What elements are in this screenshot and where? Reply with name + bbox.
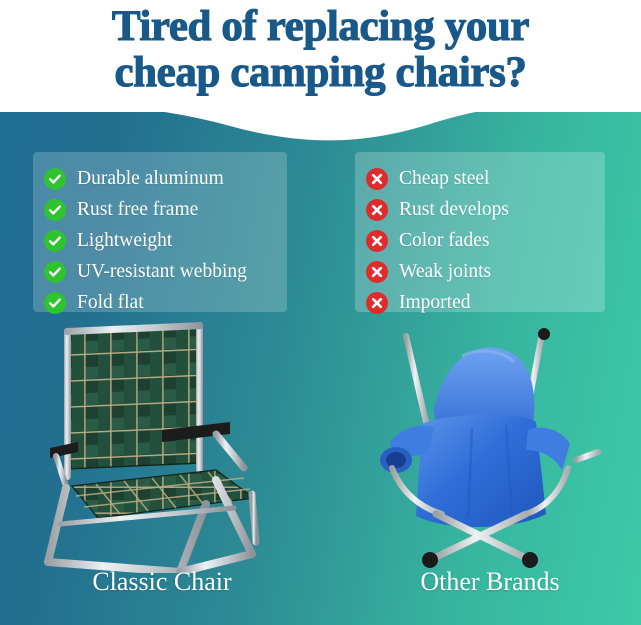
x-circle-icon — [366, 168, 388, 190]
x-circle-icon — [366, 199, 388, 221]
list-item-label: Color fades — [399, 230, 489, 252]
list-item-label: Imported — [399, 292, 470, 314]
list-item-label: Rust free frame — [77, 199, 198, 221]
header: Tired of replacing your cheap camping ch… — [0, 0, 641, 112]
x-circle-icon — [366, 230, 388, 252]
x-circle-icon — [366, 261, 388, 283]
title-line-1: Tired of replacing your — [0, 4, 641, 50]
list-item: Lightweight — [33, 226, 287, 256]
product-images — [0, 318, 641, 573]
list-item-label: Weak joints — [399, 261, 491, 283]
list-item-label: Rust develops — [399, 199, 509, 221]
cons-list: Cheap steel Rust develops — [355, 164, 605, 318]
check-circle-icon — [44, 261, 66, 283]
caption-other-brands: Other Brands — [340, 565, 640, 599]
list-item-label: Lightweight — [77, 230, 172, 252]
other-brands-chair-image — [330, 318, 630, 573]
title-line-2: cheap camping chairs? — [0, 50, 641, 96]
list-item-label: Fold flat — [77, 292, 144, 314]
list-item: Color fades — [355, 226, 605, 256]
caption-classic-chair: Classic Chair — [12, 565, 312, 599]
list-item: Fold flat — [33, 288, 287, 318]
list-item-label: Durable aluminum — [77, 168, 224, 190]
comparison-infographic: Tired of replacing your cheap camping ch… — [0, 0, 641, 625]
check-circle-icon — [44, 199, 66, 221]
pros-panel: Durable aluminum Rust free frame — [33, 152, 287, 312]
page-title: Tired of replacing your cheap camping ch… — [0, 0, 641, 96]
check-circle-icon — [44, 230, 66, 252]
check-circle-icon — [44, 168, 66, 190]
list-item: Rust free frame — [33, 195, 287, 225]
check-circle-icon — [44, 292, 66, 314]
cons-panel: Cheap steel Rust develops — [355, 152, 605, 312]
list-item: Weak joints — [355, 257, 605, 287]
list-item: Durable aluminum — [33, 164, 287, 194]
x-circle-icon — [366, 292, 388, 314]
list-item: Imported — [355, 288, 605, 318]
list-item-label: UV-resistant webbing — [77, 261, 247, 283]
feature-panels: Durable aluminum Rust free frame — [0, 152, 641, 314]
product-captions: Classic Chair Other Brands — [0, 565, 641, 609]
list-item: Cheap steel — [355, 164, 605, 194]
list-item: UV-resistant webbing — [33, 257, 287, 287]
classic-chair-image — [20, 318, 320, 573]
list-item-label: Cheap steel — [399, 168, 489, 190]
pros-list: Durable aluminum Rust free frame — [33, 164, 287, 318]
list-item: Rust develops — [355, 195, 605, 225]
